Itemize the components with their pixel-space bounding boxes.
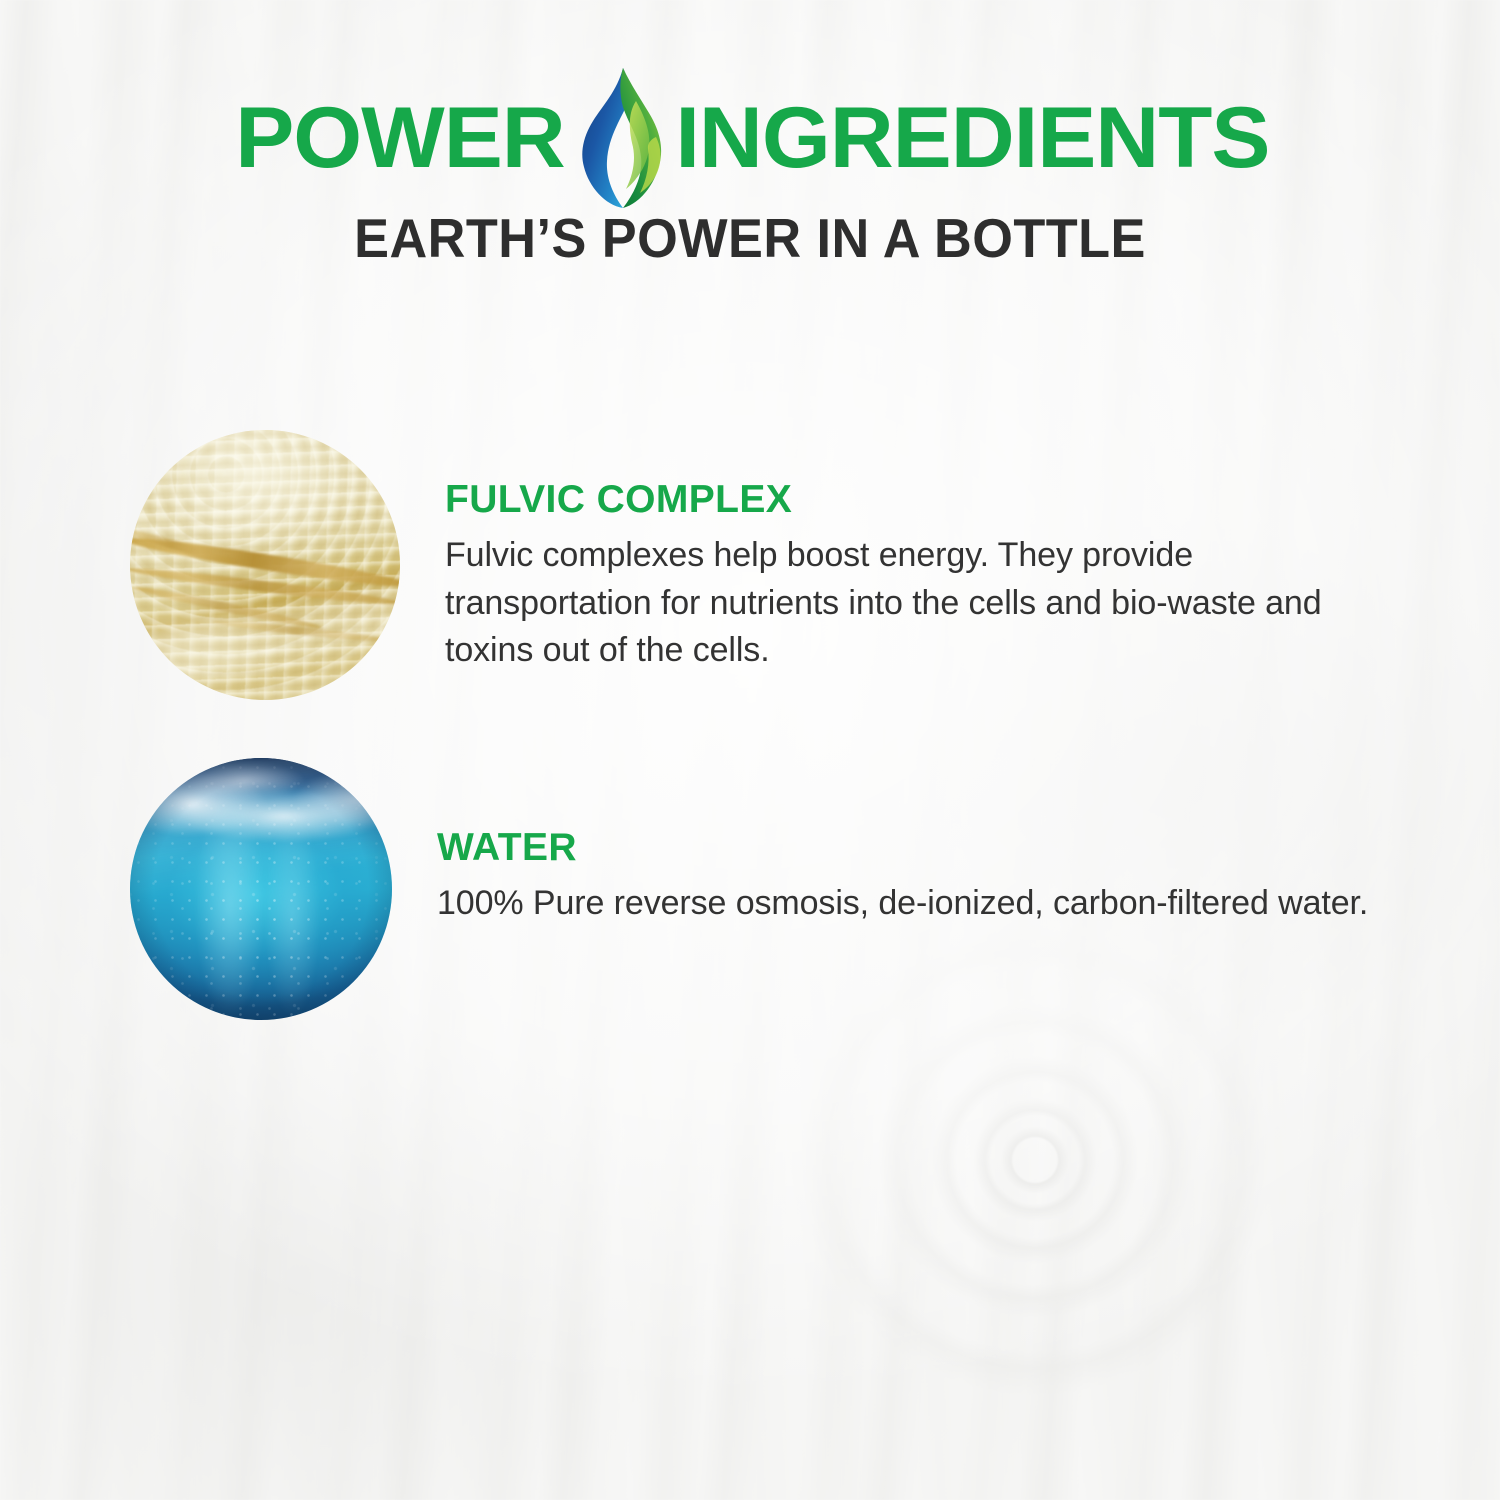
brand-word-ingredients: INGREDIENTS xyxy=(675,95,1269,181)
water-image xyxy=(130,758,392,1020)
water-edge-shading-layer xyxy=(130,758,392,1020)
brand-title: POWER xyxy=(0,86,1500,190)
brand-word-power: POWER xyxy=(235,95,565,181)
water-art-layers xyxy=(130,758,392,1020)
ingredient-heading-water: WATER xyxy=(437,826,1390,870)
ingredient-item-fulvic-complex: FULVIC COMPLEX Fulvic complexes help boo… xyxy=(0,430,1500,700)
droplet-flame-logo-icon xyxy=(576,65,668,211)
ingredient-heading-fulvic-complex: FULVIC COMPLEX xyxy=(445,478,1390,522)
tagline: EARTH’S POWER IN A BOTTLE xyxy=(38,206,1463,270)
fulvic-complex-copy: FULVIC COMPLEX Fulvic complexes help boo… xyxy=(400,430,1500,675)
page-header: POWER xyxy=(0,86,1500,270)
water-copy: WATER 100% Pure reverse osmosis, de-ioni… xyxy=(392,758,1500,928)
fulvic-art-layers xyxy=(130,430,400,700)
ingredient-description-fulvic-complex: Fulvic complexes help boost energy. They… xyxy=(445,532,1390,675)
ingredient-list: FULVIC COMPLEX Fulvic complexes help boo… xyxy=(0,430,1500,1020)
fulvic-highlight-layer xyxy=(130,430,400,700)
fulvic-complex-image xyxy=(130,430,400,700)
ingredient-item-water: WATER 100% Pure reverse osmosis, de-ioni… xyxy=(0,758,1500,1020)
ingredient-description-water: 100% Pure reverse osmosis, de-ionized, c… xyxy=(437,880,1390,928)
